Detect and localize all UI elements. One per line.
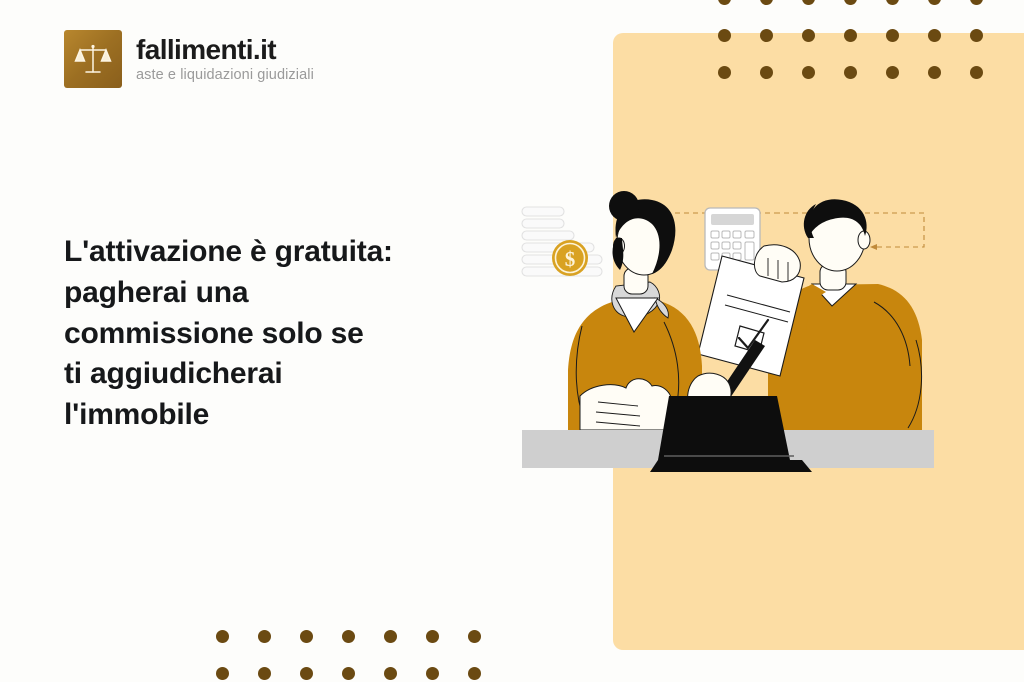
dot <box>760 29 773 42</box>
dot <box>928 0 941 5</box>
logo-subtitle: aste e liquidazioni giudiziali <box>136 68 314 83</box>
poster-canvas: fallimenti.it aste e liquidazioni giudiz… <box>0 0 1024 682</box>
headline-line: pagherai una <box>64 273 484 314</box>
dot <box>802 66 815 79</box>
decorative-dot-grid-bottom <box>216 630 510 682</box>
logo-text-block: fallimenti.it aste e liquidazioni giudiz… <box>136 36 314 83</box>
dot <box>300 630 313 643</box>
headline-line: L'attivazione è gratuita: <box>64 232 484 273</box>
dot <box>384 630 397 643</box>
dot <box>970 0 983 5</box>
dot <box>886 29 899 42</box>
dot <box>718 0 731 5</box>
dot <box>760 0 773 5</box>
dot <box>342 667 355 680</box>
dot <box>886 66 899 79</box>
dashed-connector-arrows <box>648 213 924 247</box>
decorative-dot-grid-top <box>718 0 1012 103</box>
dot <box>844 29 857 42</box>
dot <box>802 29 815 42</box>
scales-of-justice-icon <box>64 30 122 88</box>
dot <box>970 66 983 79</box>
dot <box>760 66 773 79</box>
dot <box>426 630 439 643</box>
dot <box>928 66 941 79</box>
dot <box>216 630 229 643</box>
dot <box>426 667 439 680</box>
dot <box>384 667 397 680</box>
dot <box>258 667 271 680</box>
dot <box>844 0 857 5</box>
dot <box>300 667 313 680</box>
brand-logo[interactable]: fallimenti.it aste e liquidazioni giudiz… <box>64 30 314 88</box>
dot <box>258 630 271 643</box>
headline-line: ti aggiudicherai <box>64 354 484 395</box>
dot <box>468 667 481 680</box>
dot <box>342 630 355 643</box>
hand-holding-document <box>754 245 800 282</box>
dot <box>970 29 983 42</box>
dot <box>928 29 941 42</box>
arrow-head-left <box>870 244 877 250</box>
page-title: L'attivazione è gratuita: pagherai una c… <box>64 232 484 436</box>
headline-line: l'immobile <box>64 395 484 436</box>
headline-line: commissione solo se <box>64 314 484 355</box>
dot <box>468 630 481 643</box>
dot <box>216 667 229 680</box>
dot <box>886 0 899 5</box>
dot <box>718 29 731 42</box>
two-people-reviewing-document-illustration: $ <box>512 180 942 480</box>
dot <box>802 0 815 5</box>
svg-text:$: $ <box>565 247 576 271</box>
dot <box>844 66 857 79</box>
dollar-coin-icon: $ <box>552 240 588 276</box>
logo-title: fallimenti.it <box>136 36 314 64</box>
dot <box>718 66 731 79</box>
